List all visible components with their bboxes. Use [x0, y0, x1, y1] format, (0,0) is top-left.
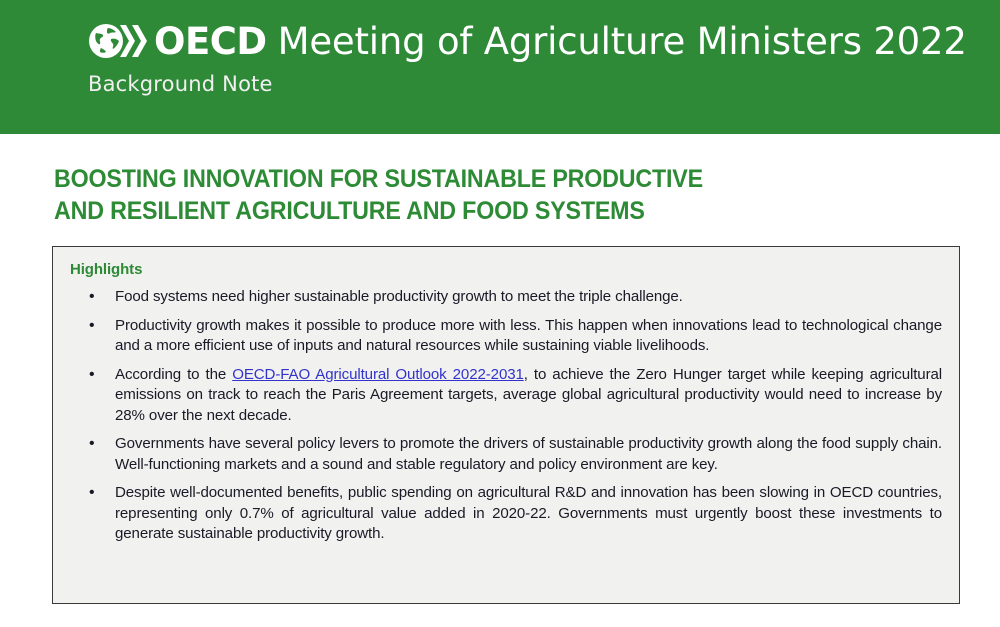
- list-item: Productivity growth makes it possible to…: [70, 316, 942, 357]
- document-page: OECD Meeting of Agriculture Ministers 20…: [0, 0, 1000, 627]
- list-item: Governments have several policy levers t…: [70, 434, 942, 475]
- bullet-text: Governments have several policy levers t…: [115, 434, 942, 475]
- bullet-text: Productivity growth makes it possible to…: [115, 316, 942, 357]
- list-item: Despite well-documented benefits, public…: [70, 483, 942, 545]
- highlights-bullet-list: Food systems need higher sustainable pro…: [70, 287, 942, 545]
- page-title-line-1: BOOSTING INNOVATION FOR SUSTAINABLE PROD…: [54, 163, 891, 195]
- oecd-fao-outlook-link[interactable]: OECD-FAO Agricultural Outlook 2022-2031: [232, 366, 524, 383]
- header-title: Meeting of Agriculture Ministers 2022: [278, 23, 967, 60]
- header-subtitle: Background Note: [88, 74, 970, 95]
- header-content: OECD Meeting of Agriculture Ministers 20…: [88, 22, 970, 95]
- list-item: According to the OECD-FAO Agricultural O…: [70, 365, 942, 427]
- page-title-line-2: AND RESILIENT AGRICULTURE AND FOOD SYSTE…: [54, 195, 891, 227]
- bullet-text: Food systems need higher sustainable pro…: [115, 287, 942, 308]
- oecd-wordmark: OECD: [154, 23, 267, 60]
- highlights-heading: Highlights: [70, 261, 942, 278]
- bullet-text-prefix: According to the: [115, 366, 232, 383]
- brand-row: OECD Meeting of Agriculture Ministers 20…: [88, 22, 970, 60]
- oecd-globe-icon: [88, 22, 150, 60]
- list-item: Food systems need higher sustainable pro…: [70, 287, 942, 308]
- highlights-box: Highlights Food systems need higher sust…: [52, 246, 960, 604]
- bullet-text: Despite well-documented benefits, public…: [115, 483, 942, 545]
- page-title: BOOSTING INNOVATION FOR SUSTAINABLE PROD…: [54, 163, 891, 227]
- header-band: OECD Meeting of Agriculture Ministers 20…: [0, 0, 1000, 134]
